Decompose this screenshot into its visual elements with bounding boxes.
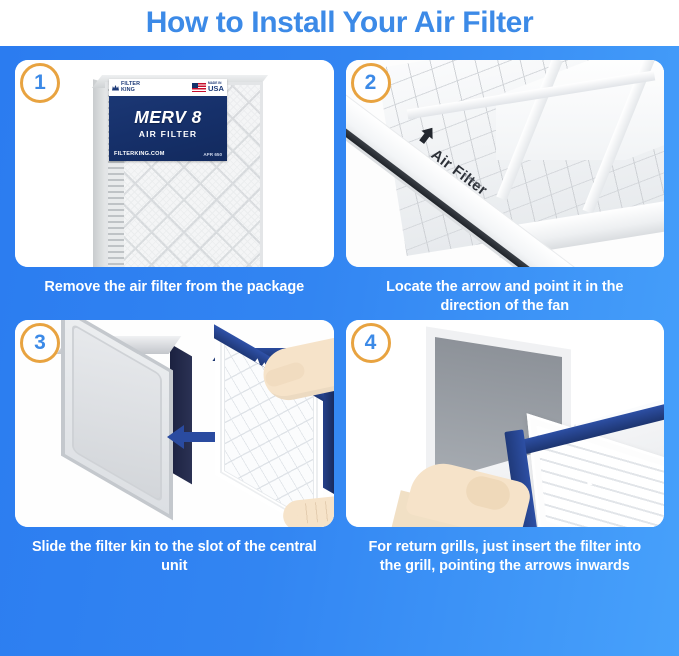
crown-icon (112, 85, 119, 91)
step-2-artwork: Air Filter AIRFLOW (346, 60, 665, 267)
made-in-usa-badge: MADE IN USA (192, 82, 224, 93)
air-filter-product: FILTER KING MADE IN USA (93, 73, 265, 267)
label-footer: FILTERKING.COM APR 650 (109, 151, 227, 157)
insert-direction-arrow-icon (167, 424, 215, 455)
brand-line-2: KING (121, 87, 135, 93)
step-4-caption: For return grills, just insert the filte… (346, 527, 665, 576)
country-text: USA (208, 85, 224, 93)
central-unit-side (170, 344, 192, 485)
step-2: Air Filter AIRFLOW 2 Locate the arrow an… (346, 60, 665, 316)
apr-rating-text: APR 650 (203, 152, 222, 157)
merv-rating: MERV 8 (109, 107, 227, 128)
step-1-caption: Remove the air filter from the package (15, 267, 334, 297)
filter-product-label: FILTER KING MADE IN USA (109, 79, 227, 161)
step-1-artwork: FILTER KING MADE IN USA (15, 60, 334, 267)
page-title: How to Install Your Air Filter (146, 8, 533, 38)
step-3: 3 Slide the filter kin to the slot of th… (15, 320, 334, 576)
step-4-badge: 4 (351, 323, 391, 363)
fingers-lower (296, 500, 333, 524)
step-3-artwork (15, 320, 334, 527)
step-1-card: FILTER KING MADE IN USA (15, 60, 334, 267)
step-2-badge: 2 (351, 63, 391, 103)
step-2-card: Air Filter AIRFLOW 2 (346, 60, 665, 267)
infographic-stage: FILTER KING MADE IN USA (0, 46, 679, 656)
step-1-badge: 1 (20, 63, 60, 103)
label-subtitle: AIR FILTER (109, 129, 227, 139)
usa-flag-icon (192, 83, 206, 92)
step-4-artwork (346, 320, 665, 527)
step-3-badge: 3 (20, 323, 60, 363)
step-3-caption: Slide the filter kin to the slot of the … (15, 527, 334, 576)
page-header: How to Install Your Air Filter (0, 0, 679, 46)
label-top-bar: FILTER KING MADE IN USA (109, 79, 227, 96)
website-text: FILTERKING.COM (114, 151, 165, 157)
filter-king-logo: FILTER KING (112, 82, 140, 93)
step-4: 4 For return grills, just insert the fil… (346, 320, 665, 576)
step-4-card: 4 (346, 320, 665, 527)
steps-grid: FILTER KING MADE IN USA (15, 60, 664, 577)
step-3-card: 3 (15, 320, 334, 527)
step-1: FILTER KING MADE IN USA (15, 60, 334, 316)
step-2-caption: Locate the arrow and point it in the dir… (346, 267, 665, 316)
